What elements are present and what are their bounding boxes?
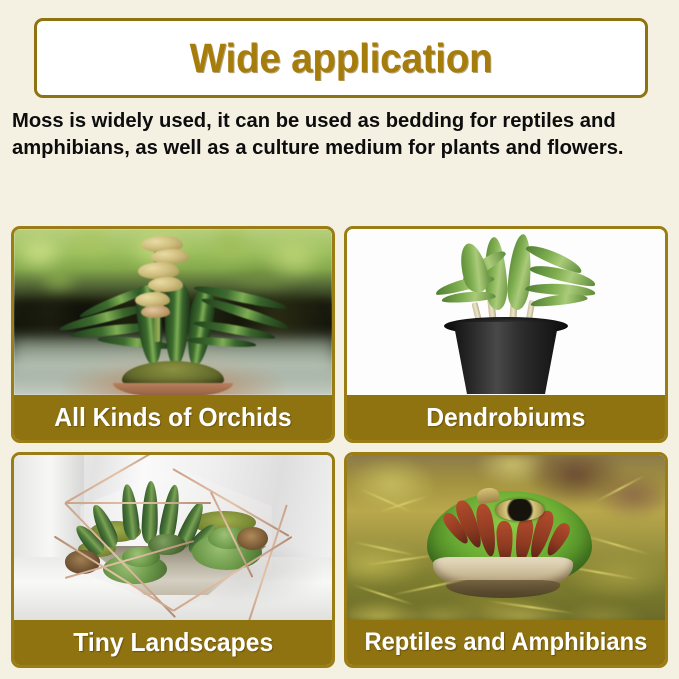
orchid-photo (14, 229, 332, 395)
card-caption-label: Dendrobiums (426, 402, 585, 433)
card-caption-label: Reptiles and Amphibians (365, 628, 648, 657)
card-caption-bar: Reptiles and Amphibians (347, 620, 665, 665)
card-caption-label: Tiny Landscapes (73, 627, 273, 658)
card-caption-label: All Kinds of Orchids (54, 402, 291, 433)
application-card-dendrobiums: Dendrobiums (344, 226, 668, 443)
frog-photo (347, 455, 665, 621)
application-card-orchids: All Kinds of Orchids (11, 226, 335, 443)
title-box: Wide application (34, 18, 648, 98)
infographic-page: Wide application Moss is widely used, it… (0, 0, 679, 679)
intro-paragraph: Moss is widely used, it can be used as b… (12, 108, 666, 161)
page-title: Wide application (190, 35, 493, 82)
application-card-grid: All Kinds of Orchids (11, 226, 668, 668)
card-caption-bar: Tiny Landscapes (14, 620, 332, 665)
dendrobium-photo (347, 229, 665, 395)
card-caption-bar: Dendrobiums (347, 395, 665, 440)
application-card-tiny-landscapes: Tiny Landscapes (11, 452, 335, 669)
card-caption-bar: All Kinds of Orchids (14, 395, 332, 440)
terrarium-photo (14, 455, 332, 621)
application-card-reptiles: Reptiles and Amphibians (344, 452, 668, 669)
